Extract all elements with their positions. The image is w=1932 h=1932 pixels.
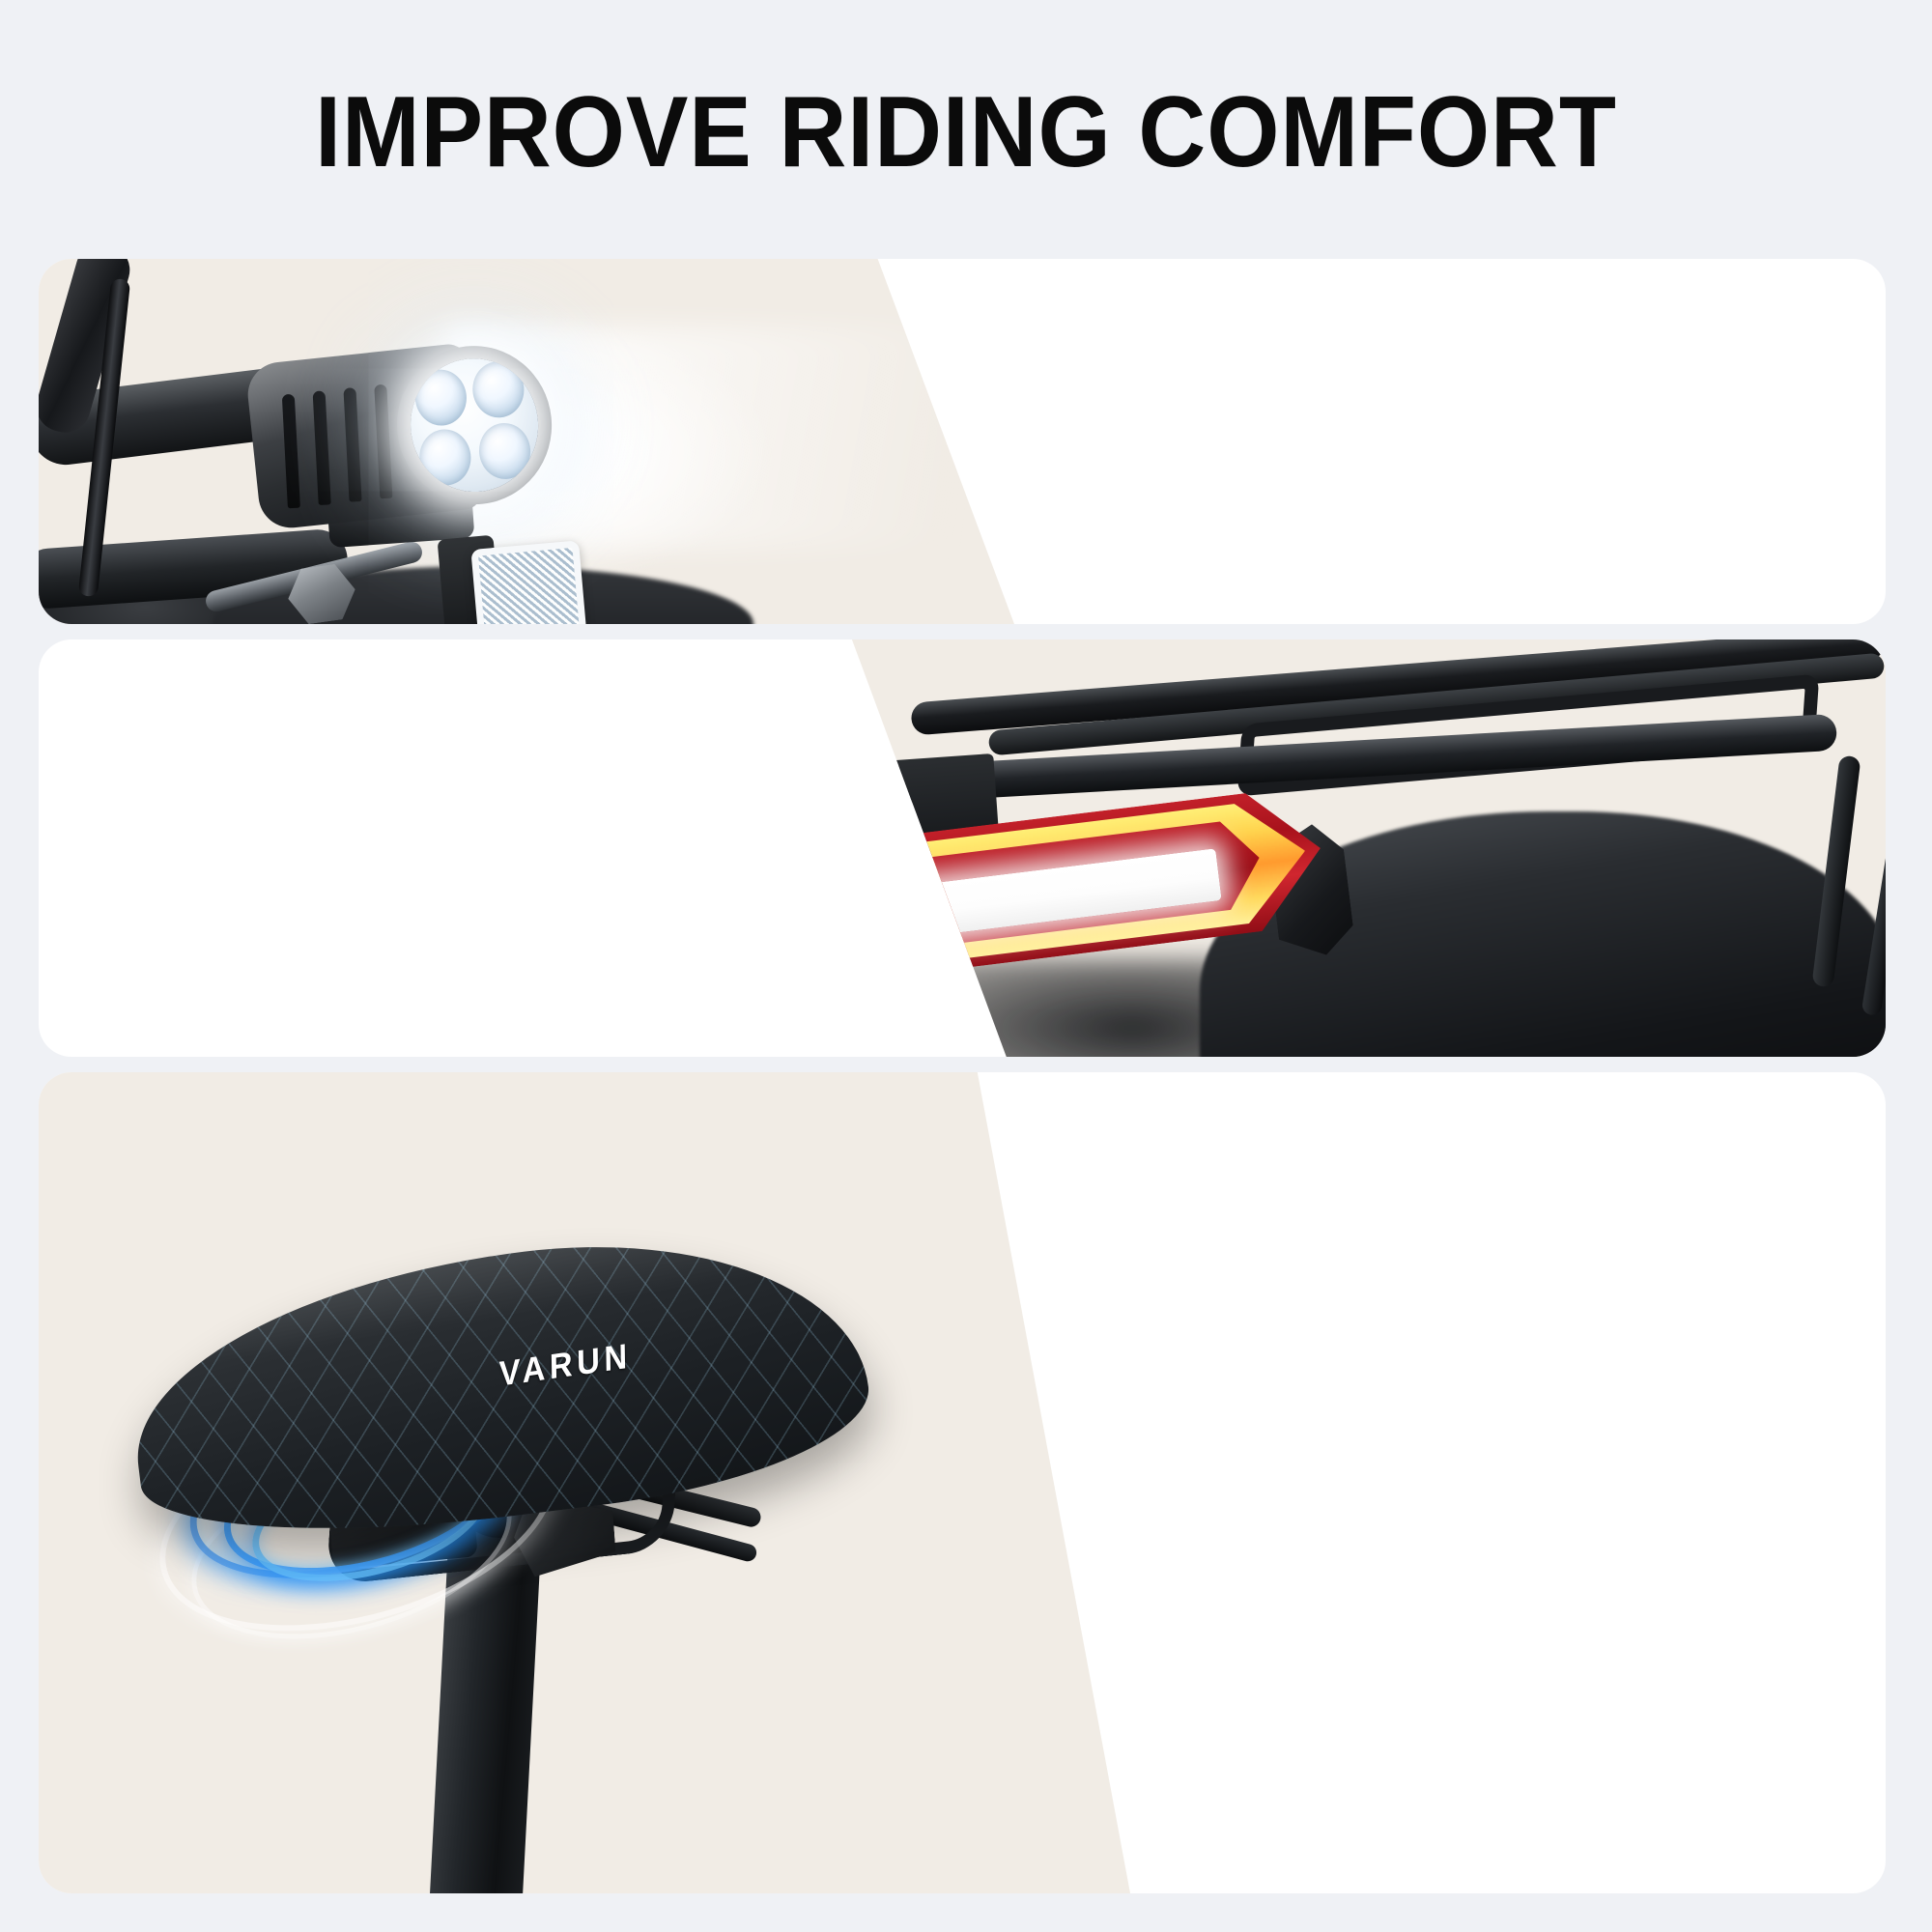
led-emitter (469, 359, 526, 420)
headlight-image-panel (39, 259, 1014, 624)
feature-card-taillight: Taillight Stronger recognition (39, 639, 1886, 1057)
seat-image-panel: VARUN (39, 1072, 1130, 1893)
infographic-page: IMPROVE RIDING COMFORT (0, 0, 1932, 1932)
headlight-housing (244, 338, 522, 538)
seat-illustration: VARUN (39, 1072, 1130, 1893)
headlight-lens-face (404, 353, 545, 498)
feature-card-headlight: Headlight Brighter, Farther and Clearer (39, 259, 1886, 624)
feature-card-seat: VARUN Seat Comfortable and height-adjust… (39, 1072, 1886, 1893)
taillight-illustration (697, 639, 1886, 1057)
led-emitter (416, 427, 473, 488)
led-emitter (412, 367, 469, 428)
page-title: IMPROVE RIDING COMFORT (68, 75, 1864, 190)
reflector-icon (470, 540, 587, 624)
headlight-illustration (39, 259, 1014, 624)
taillight-image-panel (697, 639, 1886, 1057)
led-emitter (476, 420, 533, 481)
